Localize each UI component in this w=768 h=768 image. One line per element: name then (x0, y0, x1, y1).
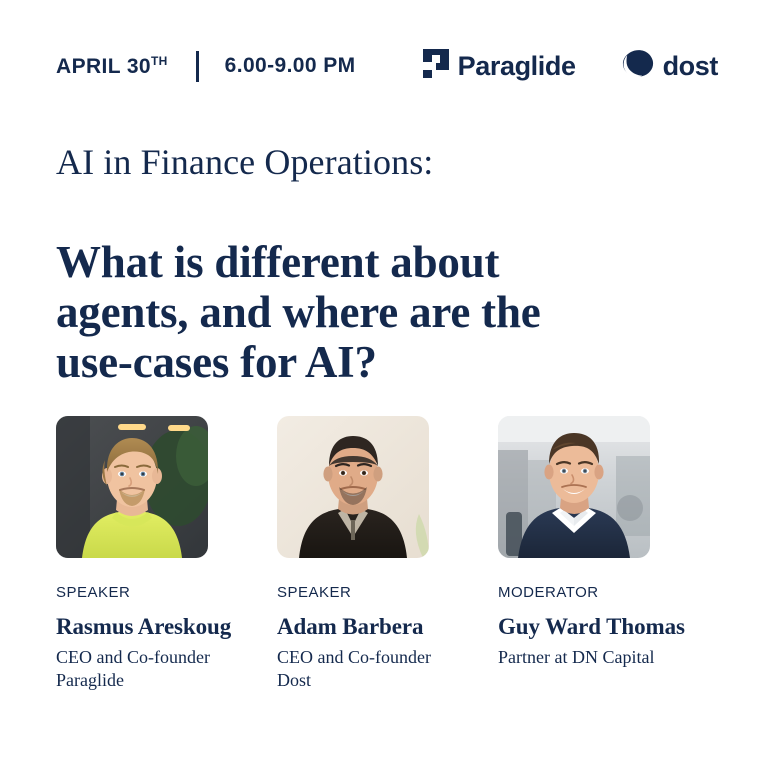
speaker-name: Rasmus Areskoug (56, 614, 277, 639)
logo-dost: dost (622, 49, 718, 83)
speaker-company: Paraglide (56, 669, 277, 692)
speaker-company: Dost (277, 669, 498, 692)
event-announcement-poster: APRIL 30TH 6.00-9.00 PM Paraglide (0, 0, 768, 768)
speaker-name: Adam Barbera (277, 614, 498, 639)
event-date-ordinal-suffix: TH (151, 54, 168, 68)
speaker-list: SPEAKER Rasmus Areskoug CEO and Co-found… (56, 416, 720, 691)
moderator-role-label: MODERATOR (498, 585, 720, 600)
paraglide-block-p-icon (423, 49, 449, 83)
speaker-title: CEO and Co-founder Paraglide (56, 646, 277, 691)
avatar (277, 416, 429, 558)
speaker-role-label: SPEAKER (56, 585, 277, 600)
moderator-title-line: Partner at DN Capital (498, 646, 720, 669)
logo-group: Paraglide dost (423, 49, 718, 83)
speaker-title-line: CEO and Co-founder (56, 646, 277, 669)
avatar (56, 416, 208, 558)
event-date-value: APRIL 30 (56, 55, 151, 78)
headline-line-2: agents, and where are the (56, 288, 696, 338)
speaker-role-label: SPEAKER (277, 585, 498, 600)
headline-line-3: use-cases for AI? (56, 338, 696, 388)
poster-header: APRIL 30TH 6.00-9.00 PM Paraglide (56, 44, 718, 88)
speaker-card: SPEAKER Adam Barbera CEO and Co-founder … (277, 416, 498, 691)
page-title: What is different about agents, and wher… (56, 238, 696, 388)
event-time: 6.00-9.00 PM (225, 54, 356, 78)
headline-line-1: What is different about (56, 238, 696, 288)
moderator-name: Guy Ward Thomas (498, 614, 720, 639)
moderator-card: MODERATOR Guy Ward Thomas Partner at DN … (498, 416, 720, 691)
event-date: APRIL 30TH (56, 54, 168, 79)
header-divider (196, 51, 199, 82)
speaker-card: SPEAKER Rasmus Areskoug CEO and Co-found… (56, 416, 277, 691)
event-datetime: APRIL 30TH 6.00-9.00 PM (56, 51, 356, 82)
speaker-title: CEO and Co-founder Dost (277, 646, 498, 691)
paraglide-wordmark: Paraglide (458, 53, 576, 80)
logo-paraglide: Paraglide (423, 49, 576, 83)
dost-wordmark: dost (663, 53, 718, 80)
eyebrow-topic: AI in Finance Operations: (56, 143, 433, 183)
moderator-title: Partner at DN Capital (498, 646, 720, 669)
dost-leaf-icon (622, 49, 654, 83)
avatar (498, 416, 650, 558)
speaker-title-line: CEO and Co-founder (277, 646, 498, 669)
